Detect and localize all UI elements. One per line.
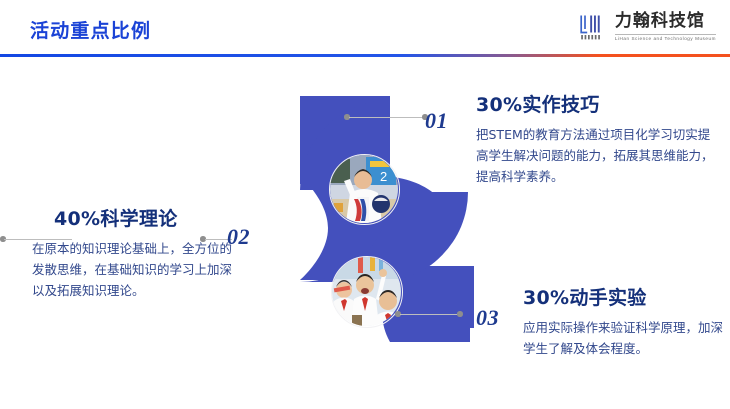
page-title: 活动重点比例: [30, 16, 151, 43]
photo-child-robot: 2: [329, 154, 400, 225]
header-divider: [0, 54, 730, 57]
item-number-03: 03: [476, 305, 499, 331]
connector-01: [344, 112, 428, 122]
brand-name-cn: 力翰科技馆: [615, 12, 716, 31]
item-block-01: 30%实作技巧 把STEM的教育方法通过项目化学习切实提高学生解决问题的能力，拓…: [476, 90, 720, 187]
connector-line: [400, 314, 458, 315]
connector-dot-outer: [457, 311, 463, 317]
slide-header: 活动重点比例: [0, 0, 730, 56]
connector-03: [395, 309, 463, 319]
item-block-02: 40%科学理论 在原本的知识理论基础上，全方位的发散思维，在基础知识的学习上加深…: [32, 204, 238, 301]
item-block-03: 30%动手实验 应用实际操作来验证科学原理，加深学生了解及体会程度。: [523, 283, 729, 359]
svg-text:2: 2: [380, 169, 387, 184]
brand-logo: 力翰科技馆 LiHan Science and Technology Museu…: [578, 12, 716, 42]
item-heading-02: 40%科学理论: [32, 204, 238, 231]
brand-wordmark: 力翰科技馆 LiHan Science and Technology Museu…: [615, 12, 716, 41]
item-heading-01: 30%实作技巧: [476, 90, 720, 117]
item-number-01: 01: [425, 108, 448, 134]
item-heading-03: 30%动手实验: [523, 283, 729, 310]
item-body-03: 应用实际操作来验证科学原理，加深学生了解及体会程度。: [523, 317, 729, 359]
photo-children-cheering: [331, 256, 403, 328]
connector-line: [349, 117, 423, 118]
lihan-bars-logo-icon: [578, 12, 608, 42]
brand-name-en: LiHan Science and Technology Museum: [615, 34, 716, 42]
item-body-02: 在原本的知识理论基础上，全方位的发散思维，在基础知识的学习上加深以及拓展知识理论…: [32, 238, 238, 301]
item-body-01: 把STEM的教育方法通过项目化学习切实提高学生解决问题的能力，拓展其思维能力，提…: [476, 124, 720, 187]
